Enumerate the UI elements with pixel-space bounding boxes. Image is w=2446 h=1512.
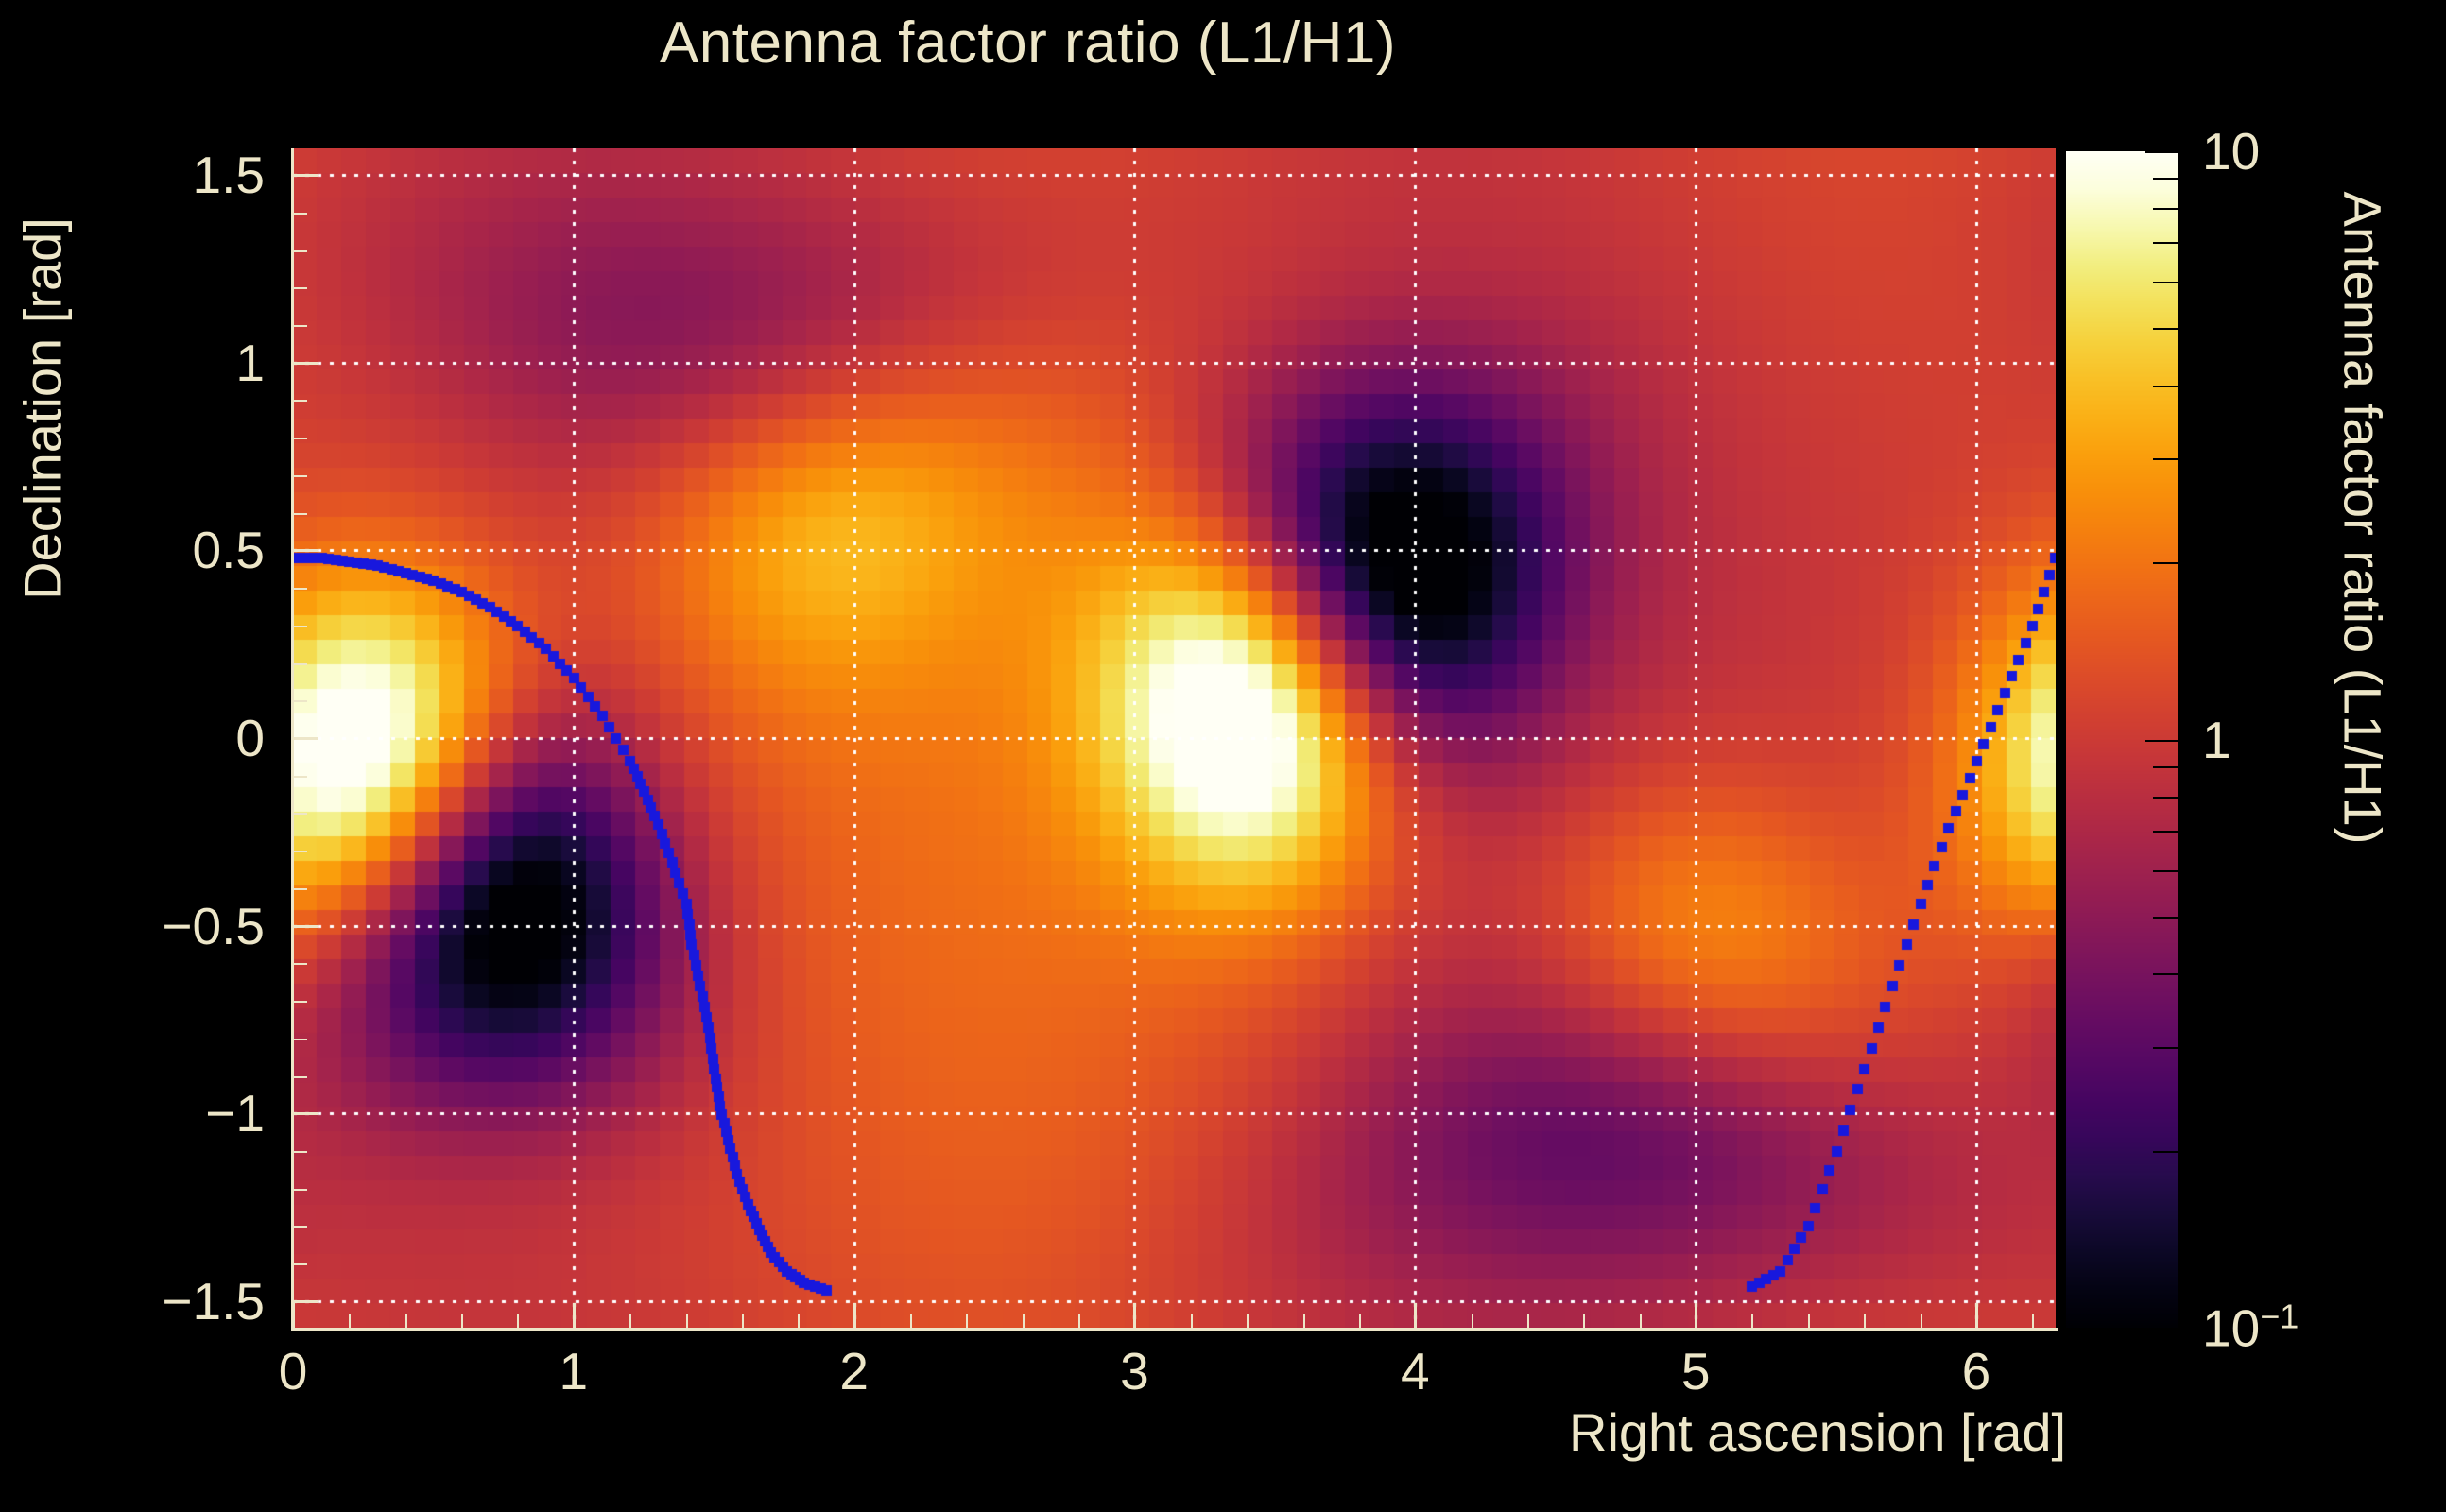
y-tick-minor [293, 325, 307, 327]
y-tick-minor [293, 213, 307, 215]
x-tick-major [1414, 1303, 1417, 1328]
x-tick-minor [1359, 1314, 1361, 1328]
x-tick-minor [1247, 1314, 1249, 1328]
y-tick-major [293, 362, 318, 365]
y-tick-minor [293, 1189, 307, 1191]
x-tick-label: 2 [839, 1341, 869, 1401]
x-tick-label: 0 [279, 1341, 308, 1401]
y-tick-minor [293, 626, 307, 627]
colorbar-tick-label: 10 [2202, 121, 2260, 181]
x-tick-minor [1864, 1314, 1866, 1328]
colorbar-tick-minor [2153, 562, 2178, 564]
colorbar-tick-minor [2153, 208, 2178, 210]
x-tick-minor [461, 1314, 463, 1328]
y-tick-minor [293, 963, 307, 965]
x-tick-minor [1023, 1314, 1025, 1328]
x-tick-major [292, 1303, 295, 1328]
x-tick-minor [910, 1314, 912, 1328]
y-tick-major [293, 549, 318, 552]
colorbar-tick-minor [2153, 282, 2178, 283]
x-tick-minor [1921, 1314, 1922, 1328]
y-tick-label: −1 [57, 1083, 265, 1143]
colorbar-tick-minor [2153, 178, 2178, 180]
colorbar-tick-minor [2153, 870, 2178, 872]
y-tick-label: 0 [57, 708, 265, 768]
y-tick-minor [293, 850, 307, 852]
y-tick-minor [293, 400, 307, 402]
x-tick-label: 3 [1120, 1341, 1149, 1401]
y-tick-label: −1.5 [57, 1271, 265, 1332]
x-tick-label: 4 [1401, 1341, 1430, 1401]
y-tick-major [293, 737, 318, 740]
y-tick-minor [293, 776, 307, 778]
y-tick-label: 1 [57, 333, 265, 393]
colorbar-tick-minor [2153, 386, 2178, 387]
x-tick-minor [1078, 1314, 1080, 1328]
x-tick-label: 1 [560, 1341, 589, 1401]
x-tick-minor [1640, 1314, 1642, 1328]
colorbar-tick-label: 1 [2202, 710, 2231, 770]
colorbar[interactable] [2066, 151, 2178, 1328]
y-tick-minor [293, 663, 307, 665]
x-tick-minor [1303, 1314, 1305, 1328]
x-tick-label: 6 [1962, 1341, 1991, 1401]
y-tick-minor [293, 287, 307, 289]
y-tick-minor [293, 1039, 307, 1040]
x-tick-label: 5 [1681, 1341, 1711, 1401]
y-tick-minor [293, 888, 307, 890]
colorbar-tick-minor [2153, 766, 2178, 768]
colorbar-tick-label: 10−1 [2202, 1297, 2299, 1358]
x-tick-minor [798, 1314, 800, 1328]
x-tick-minor [629, 1314, 631, 1328]
x-tick-minor [1527, 1314, 1529, 1328]
x-tick-minor [405, 1314, 407, 1328]
x-tick-minor [1583, 1314, 1585, 1328]
y-tick-minor [293, 1151, 307, 1153]
y-tick-minor [293, 700, 307, 702]
y-tick-minor [293, 438, 307, 439]
x-tick-minor [686, 1314, 688, 1328]
y-tick-minor [293, 475, 307, 477]
x-tick-major [1695, 1303, 1697, 1328]
colorbar-tick-minor [2153, 1047, 2178, 1049]
x-tick-minor [1751, 1314, 1753, 1328]
colorbar-tick-minor [2153, 973, 2178, 975]
x-tick-major [853, 1303, 856, 1328]
colorbar-tick-minor [2153, 831, 2178, 833]
y-tick-minor [293, 1226, 307, 1228]
y-tick-major [293, 1300, 318, 1303]
y-axis-title: Declination [rad] [12, 173, 74, 645]
y-tick-label: 0.5 [57, 520, 265, 580]
y-tick-label: 1.5 [57, 145, 265, 205]
figure-root: Antenna factor ratio (L1/H1) 0123456 1.5… [0, 0, 2446, 1512]
colorbar-tick-minor [2153, 797, 2178, 799]
heatmap-plot-area[interactable] [293, 148, 2056, 1328]
y-tick-minor [293, 1076, 307, 1078]
x-tick-minor [1472, 1314, 1473, 1328]
colorbar-tick-minor [2153, 458, 2178, 460]
x-tick-minor [966, 1314, 968, 1328]
x-tick-minor [1191, 1314, 1193, 1328]
x-tick-major [573, 1303, 576, 1328]
colorbar-tick-major [2145, 740, 2178, 742]
y-tick-major [293, 925, 318, 928]
y-tick-minor [293, 1263, 307, 1265]
y-tick-major [293, 1112, 318, 1115]
colorbar-tick-major [2145, 1328, 2178, 1330]
x-tick-major [1975, 1303, 1978, 1328]
colorbar-tick-minor [2153, 917, 2178, 919]
colorbar-tick-major [2145, 151, 2178, 153]
y-tick-minor [293, 588, 307, 590]
y-tick-minor [293, 513, 307, 515]
x-tick-minor [517, 1314, 519, 1328]
colorbar-title: Antenna factor ratio (L1/H1) [2333, 192, 2394, 683]
figure-title: Antenna factor ratio (L1/H1) [0, 9, 2056, 77]
x-tick-major [1133, 1303, 1136, 1328]
x-tick-minor [2032, 1314, 2034, 1328]
x-axis-spine [291, 1328, 2058, 1331]
colorbar-tick-minor [2153, 1151, 2178, 1153]
y-tick-label: −0.5 [57, 896, 265, 956]
colorbar-tick-minor [2153, 242, 2178, 244]
x-axis-title: Right ascension [rad] [1569, 1401, 2066, 1463]
grid-and-galactic-plane-overlay [293, 148, 2056, 1328]
y-tick-minor [293, 250, 307, 252]
x-tick-minor [349, 1314, 351, 1328]
x-tick-minor [1808, 1314, 1810, 1328]
x-tick-minor [742, 1314, 744, 1328]
colorbar-tick-minor [2153, 328, 2178, 330]
y-tick-minor [293, 1001, 307, 1003]
y-tick-major [293, 174, 318, 177]
y-tick-minor [293, 813, 307, 815]
